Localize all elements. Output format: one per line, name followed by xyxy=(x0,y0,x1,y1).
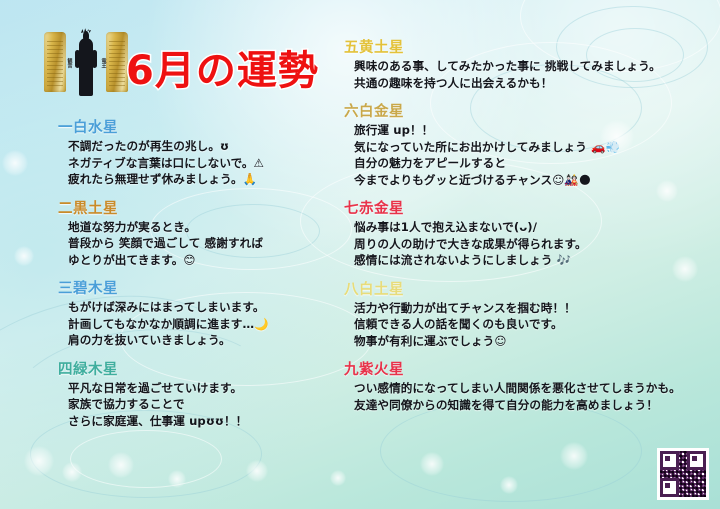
fortune-section: 九紫火星つい感情的になってしまい人間関係を悪化させてしまうかも。友達や同僚からの… xyxy=(344,358,710,413)
fortune-line: 家族で協力することで xyxy=(68,397,348,413)
fortune-line: 感情には流されないようにしましょう 🎶 xyxy=(354,253,710,269)
fortune-poster: 観音 竜王 6月の運勢 一白水星不調だったのが再生の兆し。ʊネガティブな言葉は口… xyxy=(0,0,720,509)
fortune-line: 今までよりもグッと近づけるチャンス☺🎎🌑 xyxy=(354,173,710,189)
fortune-line: 周りの人の助けで大きな成果が得られます。 xyxy=(354,237,710,253)
fortune-line: 普段から 笑顔で過ごして 感謝すれば xyxy=(68,236,348,252)
fortune-line: 地道な努力が実るとき。 xyxy=(68,220,348,236)
fortune-line: ネガティブな言葉は口にしないで。⚠ xyxy=(68,156,348,172)
fortune-line: 疲れたら無理せず休みましょう。🙏 xyxy=(68,172,348,188)
dragon-pillar-left-icon xyxy=(44,32,66,92)
fortune-line: さらに家庭運、仕事運 upʊʊ！！ xyxy=(68,414,348,430)
bokeh-circle xyxy=(24,446,54,476)
fortune-section: 五黄土星興味のある事、してみたかった事に 挑戦してみましょう。共通の趣味を持つ人… xyxy=(344,36,710,91)
right-column: 五黄土星興味のある事、してみたかった事に 挑戦してみましょう。共通の趣味を持つ人… xyxy=(344,36,710,422)
fortune-line: 計画してもなかなか順調に進ます…🌙 xyxy=(68,317,348,333)
bokeh-circle xyxy=(2,150,28,176)
dragon-pillar-right-icon xyxy=(106,32,128,92)
fortune-heading: 八白土星 xyxy=(344,278,710,299)
bokeh-circle xyxy=(14,246,34,266)
fortune-heading: 九紫火星 xyxy=(344,358,710,379)
temple-logo: 観音 竜王 xyxy=(44,28,128,96)
fortune-heading: 三碧木星 xyxy=(58,277,348,298)
fortune-line: もがけば深みにはまってしまいます。 xyxy=(68,300,348,316)
fortune-line: 悩み事は1人で抱え込まないで(ᴗ)/ xyxy=(354,220,710,236)
fortune-line: 肩の力を抜いていきましょう。 xyxy=(68,333,348,349)
bokeh-circle xyxy=(62,462,82,482)
fortune-section: 七赤金星悩み事は1人で抱え込まないで(ᴗ)/周りの人の助けで大きな成果が得られま… xyxy=(344,197,710,269)
fortune-line: 友達や同僚からの知識を得て自分の能力を高めましょう！ xyxy=(354,398,710,414)
fortune-section: 八白土星活力や行動力が出てチャンスを掴む時！！信頼できる人の話を聞くのも良いです… xyxy=(344,278,710,350)
fortune-heading: 七赤金星 xyxy=(344,197,710,218)
fortune-line: 活力や行動力が出てチャンスを掴む時！！ xyxy=(354,301,710,317)
left-column: 一白水星不調だったのが再生の兆し。ʊネガティブな言葉は口にしないで。⚠疲れたら無… xyxy=(58,116,348,438)
fortune-line: 旅行運 up！！ xyxy=(354,123,710,139)
fortune-section: 四緑木星平凡な日常を過ごせていけます。家族で協力することでさらに家庭運、仕事運 … xyxy=(58,358,348,430)
fortune-heading: 五黄土星 xyxy=(344,36,710,57)
qr-code[interactable] xyxy=(657,448,709,500)
fortune-section: 二黒土星地道な努力が実るとき。普段から 笑顔で過ごして 感謝すればゆとりが出てき… xyxy=(58,197,348,269)
water-ring xyxy=(70,430,222,488)
bokeh-circle xyxy=(168,470,186,488)
bokeh-circle xyxy=(500,476,518,494)
bokeh-circle xyxy=(560,442,588,470)
fortune-line: ゆとりが出てきます。😊 xyxy=(68,253,348,269)
fortune-section: 六白金星旅行運 up！！気になっていた所にお出かけしてみましょう 🚗💨自分の魅力… xyxy=(344,100,710,188)
bokeh-circle xyxy=(246,460,268,482)
fortune-line: 興味のある事、してみたかった事に 挑戦してみましょう。 xyxy=(354,59,710,75)
logo-kanji-left: 観音 xyxy=(66,58,72,68)
fortune-line: 平凡な日常を過ごせていけます。 xyxy=(68,381,348,397)
fortune-line: つい感情的になってしまい人間関係を悪化させてしまうかも。 xyxy=(354,381,710,397)
bokeh-circle xyxy=(108,452,134,478)
fortune-section: 一白水星不調だったのが再生の兆し。ʊネガティブな言葉は口にしないで。⚠疲れたら無… xyxy=(58,116,348,188)
fortune-line: 信頼できる人の話を聞くのも良いです。 xyxy=(354,317,710,333)
logo-kanji-right: 竜王 xyxy=(100,58,106,68)
fortune-heading: 四緑木星 xyxy=(58,358,348,379)
page-title: 6月の運勢 xyxy=(126,38,319,96)
fortune-heading: 一白水星 xyxy=(58,116,348,137)
bokeh-circle xyxy=(330,470,346,486)
fortune-section: 三碧木星もがけば深みにはまってしまいます。計画してもなかなか順調に進ます…🌙肩の… xyxy=(58,277,348,349)
bokeh-circle xyxy=(420,452,444,476)
fortune-line: 気になっていた所にお出かけしてみましょう 🚗💨 xyxy=(354,140,710,156)
fortune-line: 自分の魅力をアピールすると xyxy=(354,156,710,172)
deity-statue-icon xyxy=(74,28,98,96)
fortune-line: 物事が有利に運ぶでしょう☺ xyxy=(354,334,710,350)
fortune-heading: 六白金星 xyxy=(344,100,710,121)
fortune-line: 不調だったのが再生の兆し。ʊ xyxy=(68,139,348,155)
fortune-line: 共通の趣味を持つ人に出会えるかも！ xyxy=(354,76,710,92)
fortune-heading: 二黒土星 xyxy=(58,197,348,218)
